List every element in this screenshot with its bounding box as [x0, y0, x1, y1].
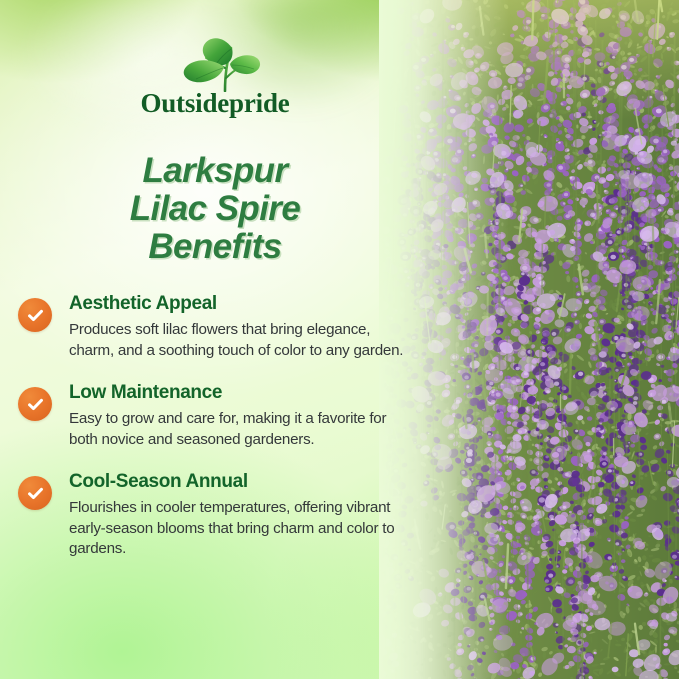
benefit-text: Cool-Season Annual Flourishes in cooler …	[69, 471, 418, 560]
benefit-body: Flourishes in cooler temperatures, offer…	[69, 498, 405, 560]
leaf-sprout-icon	[176, 34, 272, 92]
benefits-list: Aesthetic Appeal Produces soft lilac flo…	[18, 293, 418, 560]
title-line-1: Larkspur	[0, 152, 430, 190]
check-circle-icon	[18, 298, 52, 332]
brand-logo[interactable]: Outsidepride	[0, 34, 430, 119]
benefit-body: Produces soft lilac flowers that bring e…	[69, 320, 405, 361]
benefit-body: Easy to grow and care for, making it a f…	[69, 409, 405, 450]
benefit-heading: Low Maintenance	[69, 382, 418, 404]
benefit-item: Aesthetic Appeal Produces soft lilac flo…	[18, 293, 418, 361]
check-circle-icon	[18, 387, 52, 421]
title-line-2: Lilac Spire	[0, 190, 430, 228]
check-circle-icon	[18, 476, 52, 510]
benefit-text: Low Maintenance Easy to grow and care fo…	[69, 382, 418, 450]
title-line-3: Benefits	[0, 228, 430, 266]
benefit-item: Low Maintenance Easy to grow and care fo…	[18, 382, 418, 450]
benefit-item: Cool-Season Annual Flourishes in cooler …	[18, 471, 418, 560]
benefit-heading: Cool-Season Annual	[69, 471, 418, 493]
benefit-heading: Aesthetic Appeal	[69, 293, 418, 315]
infographic-page: Outsidepride Larkspur Lilac Spire Benefi…	[0, 0, 679, 679]
benefit-text: Aesthetic Appeal Produces soft lilac flo…	[69, 293, 418, 361]
page-title: Larkspur Lilac Spire Benefits	[0, 152, 430, 266]
brand-wordmark: Outsidepride	[140, 88, 289, 119]
